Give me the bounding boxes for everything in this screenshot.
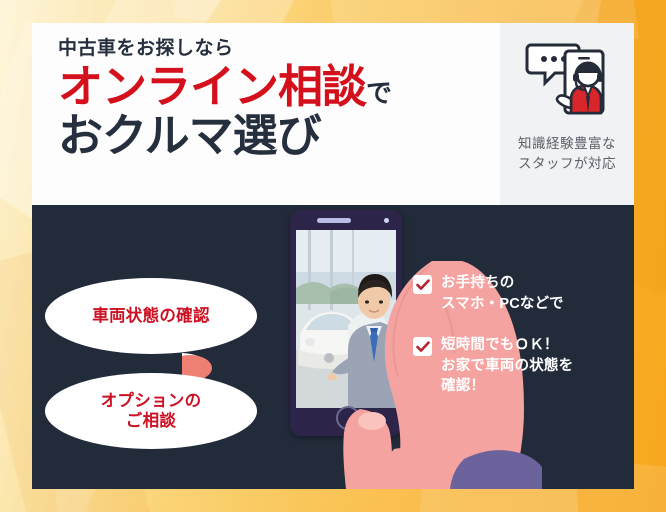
headline-secondary: おクルマ選び (58, 112, 498, 159)
side-caption-line1: 知識経験豊富な (518, 134, 616, 154)
checklist-item: お手持ちの スマホ・PCなどで (413, 273, 628, 314)
headline-highlight: オンライン相談 (58, 61, 366, 112)
smartphone-device (290, 210, 402, 436)
feature-bubble: 車両状態の確認 (45, 278, 257, 354)
phone-camera-icon (384, 218, 389, 223)
checklist-item-text: 短時間でもＯＫ！ お家で車両の状態を 確認！ (441, 335, 573, 397)
headset-staff-video-call-icon (521, 33, 613, 130)
side-panel: 知識経験豊富な スタッフが対応 (500, 23, 634, 205)
phone-screen-photo (296, 230, 396, 408)
headline-suffix: で (366, 78, 392, 108)
feature-bubble-label: オプションの ご相談 (101, 391, 202, 431)
phone-speaker (317, 218, 351, 223)
feature-bubble-label: 車両状態の確認 (92, 306, 210, 326)
side-panel-caption: 知識経験豊富な スタッフが対応 (518, 134, 616, 173)
checklist: お手持ちの スマホ・PCなどで 短時間でもＯＫ！ お家で車両の状態を 確認！ (413, 273, 628, 418)
phone-home-button (336, 406, 360, 430)
online-consultation-banner: 中古車をお探しなら オンライン相談で おクルマ選び (0, 0, 666, 512)
kicker-text: 中古車をお探しなら (58, 39, 498, 60)
side-caption-line2: スタッフが対応 (518, 154, 616, 174)
header-area: 中古車をお探しなら オンライン相談で おクルマ選び (32, 23, 634, 205)
feature-bubble: オプションの ご相談 (45, 373, 257, 449)
headline-block: 中古車をお探しなら オンライン相談で おクルマ選び (58, 39, 498, 159)
banner-card: 中古車をお探しなら オンライン相談で おクルマ選び (32, 23, 634, 489)
checklist-item: 短時間でもＯＫ！ お家で車両の状態を 確認！ (413, 335, 628, 397)
check-icon (413, 275, 432, 294)
headline-primary: オンライン相談で (58, 64, 498, 110)
checklist-item-text: お手持ちの スマホ・PCなどで (441, 273, 564, 314)
lower-panel: 車両状態の確認 オプションの ご相談 お手持ちの スマホ・PCなどで (32, 205, 634, 489)
check-icon (413, 337, 432, 356)
